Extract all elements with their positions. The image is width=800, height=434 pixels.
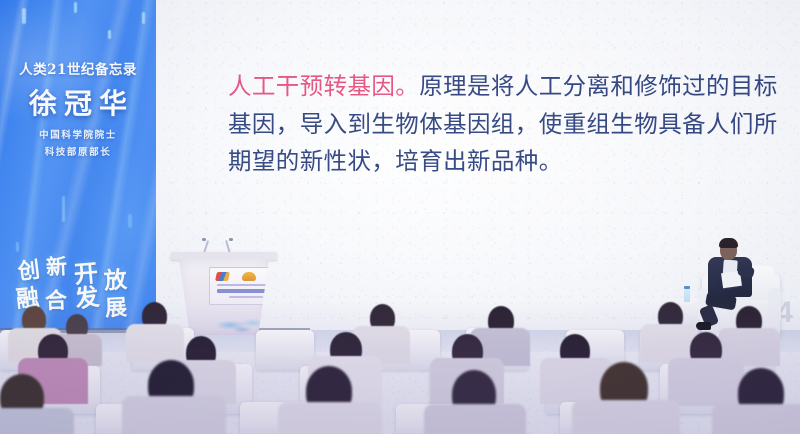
lectern-text-line-small [217, 284, 273, 286]
microphone-head-right [229, 238, 233, 241]
lectern-text-line-sub [229, 296, 263, 298]
conference-stage-photo: 24 人类21世纪备忘录 徐冠华 中国科学院院士 科技部原部长 创 新 开 放 … [0, 0, 800, 434]
slogan-char-1: 创 [17, 259, 42, 284]
dome-logo-icon [242, 272, 256, 281]
slide-highlight-phrase: 人工干预转基因。 [228, 72, 419, 100]
intro-kicker: 人类21世纪备忘录 [0, 64, 156, 78]
tricolor-logo-icon [215, 272, 230, 281]
slogan-char-4: 放 [103, 268, 128, 293]
water-bottle-cap [684, 286, 690, 289]
speaker-hair [719, 238, 738, 248]
slogan-char-2: 新 [45, 255, 67, 277]
lectern-logo-row [216, 272, 256, 281]
speaker-title-line2: 科技部原部长 [0, 145, 156, 161]
slide-body-text: 人工干预转基因。原理是将人工分离和修饰过的目标基因，导入到生物体基因组，使重组生… [228, 68, 784, 181]
lectern-text-line-main [217, 289, 275, 293]
speaker-title-line1: 中国科学院院士 [0, 128, 156, 144]
lectern-top [171, 252, 277, 260]
audience [0, 300, 800, 434]
speaker-name: 徐冠华 [0, 89, 156, 118]
chair [256, 330, 314, 370]
microphone-head-left [202, 238, 206, 241]
speaker-intro-content: 人类21世纪备忘录 徐冠华 中国科学院院士 科技部原部长 [0, 0, 156, 160]
